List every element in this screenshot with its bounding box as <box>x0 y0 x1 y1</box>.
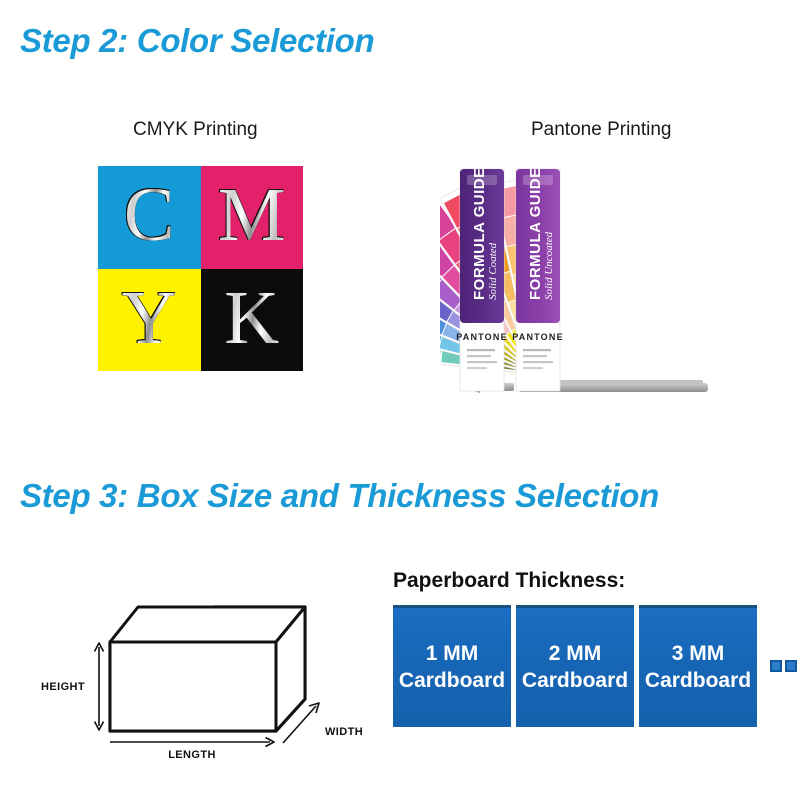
more-options-ellipsis-icon <box>770 660 800 672</box>
cmyk-caption: CMYK Printing <box>133 119 258 141</box>
thickness-size-label: 1 MM <box>426 641 479 667</box>
cmyk-cell-magenta: M <box>201 166 304 269</box>
cmyk-letter-m: M <box>218 177 286 253</box>
pantone-guide-solid-coated: FORMULA GUIDE Solid Coated PANTONE <box>456 167 508 391</box>
step2-heading: Step 2: Color Selection <box>20 22 374 60</box>
thickness-material-label: Cardboard <box>645 668 751 694</box>
thickness-option-1mm[interactable]: 1 MM Cardboard <box>393 605 511 727</box>
paperboard-thickness-title: Paperboard Thickness: <box>393 569 625 593</box>
svg-text:Solid Uncoated: Solid Uncoated <box>543 231 555 300</box>
thickness-size-label: 3 MM <box>672 641 725 667</box>
ellipsis-dot <box>770 660 782 672</box>
thickness-size-label: 2 MM <box>549 641 602 667</box>
cmyk-cell-yellow: Y <box>98 269 201 372</box>
length-arrow <box>110 738 274 747</box>
cmyk-letter-c: C <box>124 177 175 253</box>
paperboard-thickness-options: 1 MM Cardboard 2 MM Cardboard 3 MM Cardb… <box>393 605 800 727</box>
svg-text:FORMULA GUIDE: FORMULA GUIDE <box>527 167 544 300</box>
svg-text:FORMULA GUIDE: FORMULA GUIDE <box>471 167 488 300</box>
height-arrow <box>95 643 104 730</box>
svg-text:PANTONE: PANTONE <box>512 332 564 342</box>
cmyk-letter-k: K <box>224 280 279 356</box>
step3-heading: Step 3: Box Size and Thickness Selection <box>20 477 659 515</box>
thickness-material-label: Cardboard <box>399 668 505 694</box>
pantone-caption: Pantone Printing <box>531 119 672 141</box>
cmyk-cell-cyan: C <box>98 166 201 269</box>
height-label: HEIGHT <box>41 681 85 693</box>
box-dimension-diagram: HEIGHT LENGTH WIDTH <box>30 575 370 770</box>
width-label: WIDTH <box>325 726 363 738</box>
length-label: LENGTH <box>168 749 216 761</box>
cmyk-swatch-block: C M Y K <box>98 166 303 371</box>
thickness-material-label: Cardboard <box>522 668 628 694</box>
pantone-guide-solid-uncoated: FORMULA GUIDE Solid Uncoated PANTONE <box>512 167 564 391</box>
cmyk-cell-black: K <box>201 269 304 372</box>
ellipsis-dot <box>785 660 797 672</box>
thickness-option-3mm[interactable]: 3 MM Cardboard <box>639 605 757 727</box>
thickness-option-2mm[interactable]: 2 MM Cardboard <box>516 605 634 727</box>
cmyk-letter-y: Y <box>122 280 177 356</box>
svg-text:PANTONE: PANTONE <box>456 332 508 342</box>
infographic-page: Step 2: Color Selection CMYK Printing Pa… <box>0 0 800 800</box>
pantone-fan-deck-illustration: FORMULA GUIDE Solid Coated PANTONE FORMU… <box>440 155 760 400</box>
svg-text:Solid Coated: Solid Coated <box>487 242 499 300</box>
